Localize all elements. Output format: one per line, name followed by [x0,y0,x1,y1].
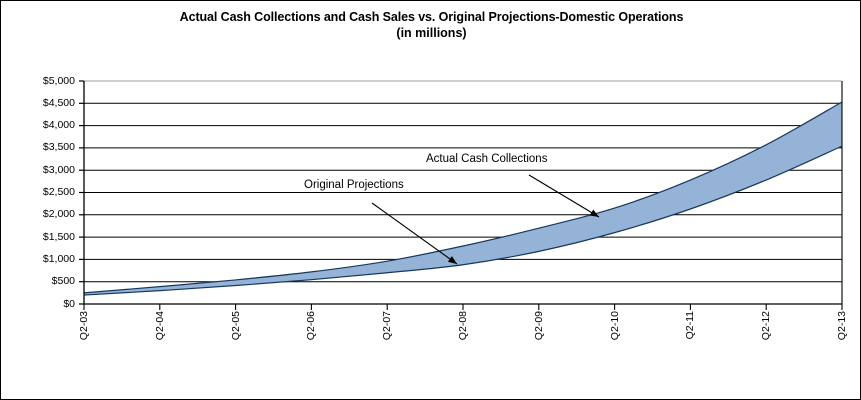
x-axis-tick-label: Q2-04 [152,311,168,371]
x-axis-tick-text: Q2-09 [533,311,545,340]
x-axis-tick-text: Q2-06 [305,311,317,340]
annotation-label-original-projections: Original Projections [304,179,404,192]
x-axis-tick-label: Q2-05 [228,311,244,371]
x-axis-tick-text: Q2-04 [154,311,166,340]
x-axis-tick-label: Q2-13 [834,311,850,371]
chart-page: Actual Cash Collections and Cash Sales v… [0,0,861,400]
x-axis-tick-label: Q2-12 [758,311,774,371]
x-axis-tick-text: Q2-07 [381,311,393,340]
annotation-label-actual-cash-collections: Actual Cash Collections [426,153,547,166]
x-axis-tick-text: Q2-05 [230,311,242,340]
x-axis-labels: Q2-03Q2-04Q2-05Q2-06Q2-07Q2-08Q2-09Q2-10… [1,1,861,400]
x-axis-tick-text: Q2-03 [78,311,90,340]
x-axis-tick-text: Q2-08 [457,311,469,340]
x-axis-tick-label: Q2-08 [455,311,471,371]
x-axis-tick-label: Q2-03 [76,311,92,371]
x-axis-tick-text: Q2-11 [684,311,696,339]
x-axis-tick-label: Q2-11 [682,311,698,371]
x-axis-tick-text: Q2-10 [609,311,621,340]
x-axis-tick-text: Q2-13 [836,311,848,340]
x-axis-tick-text: Q2-12 [760,311,772,340]
x-axis-tick-label: Q2-09 [531,311,547,371]
x-axis-tick-label: Q2-06 [303,311,319,371]
x-axis-tick-label: Q2-07 [379,311,395,371]
x-axis-tick-label: Q2-10 [607,311,623,371]
